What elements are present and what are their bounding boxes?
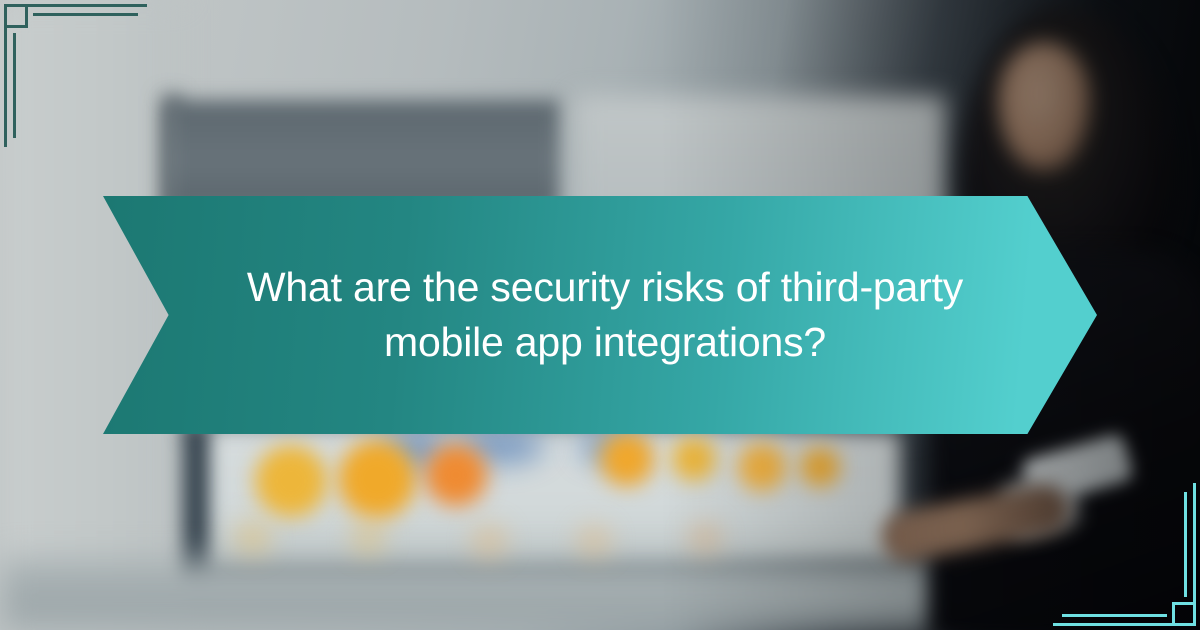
corner-line-tl-h1 — [25, 4, 147, 7]
corner-line-br-h1 — [1053, 623, 1175, 626]
corner-bracket-top-left-icon — [0, 0, 150, 150]
corner-square-br — [1172, 602, 1196, 626]
title-banner: What are the security risks of third-par… — [103, 196, 1097, 434]
corner-line-tl-v0 — [25, 4, 28, 24]
page-title: What are the security risks of third-par… — [220, 260, 990, 369]
corner-line-tl-h2 — [33, 13, 138, 16]
corner-line-br-v2 — [1184, 492, 1187, 597]
share-card: What are the security risks of third-par… — [0, 0, 1200, 630]
corner-bracket-bottom-right-icon — [1050, 480, 1200, 630]
corner-line-tl-v1 — [4, 25, 7, 147]
corner-line-br-h2 — [1062, 614, 1167, 617]
corner-line-br-v0 — [1172, 606, 1175, 626]
corner-line-tl-v2 — [13, 33, 16, 138]
corner-line-tl-h0 — [4, 25, 28, 28]
corner-line-br-v1 — [1193, 483, 1196, 605]
